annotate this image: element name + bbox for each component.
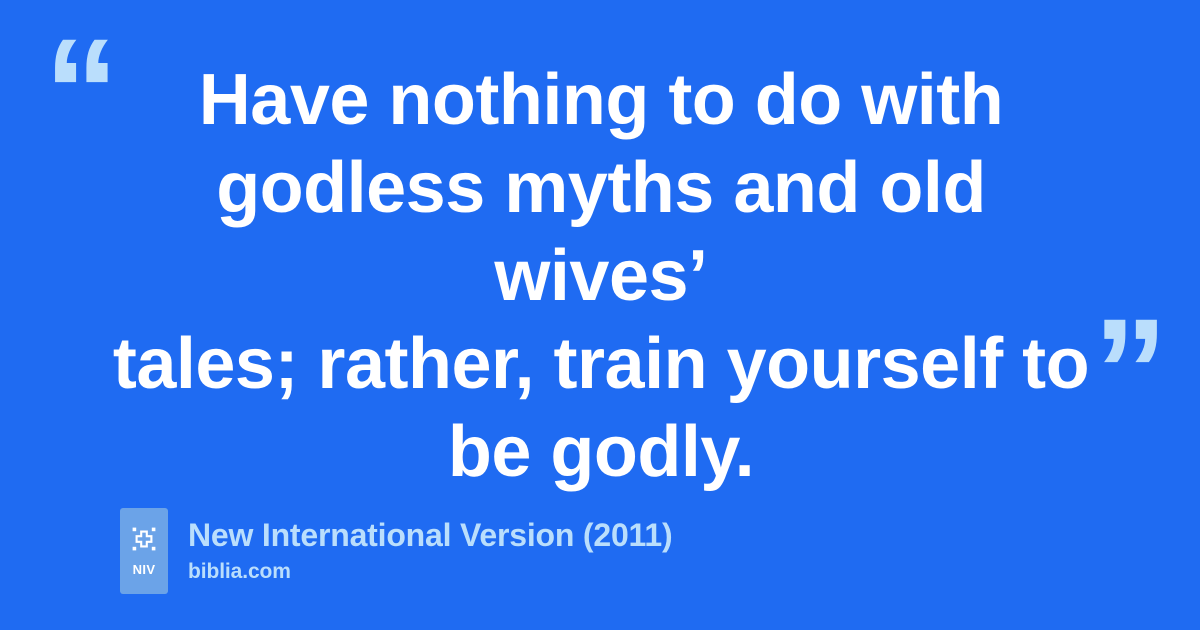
closing-quotation-mark: ” bbox=[1093, 296, 1166, 446]
attribution-text: New International Version (2011) biblia.… bbox=[188, 508, 672, 594]
bible-version-name: New International Version (2011) bbox=[188, 515, 672, 555]
attribution: NIV New International Version (2011) bib… bbox=[120, 508, 672, 594]
version-abbreviation: NIV bbox=[133, 563, 156, 576]
site-url[interactable]: biblia.com bbox=[188, 559, 672, 585]
bible-verse-quote-card: “ Have nothing to do with godless myths … bbox=[0, 0, 1200, 630]
opening-quotation-mark: “ bbox=[44, 16, 117, 166]
cross-selection-icon bbox=[132, 527, 156, 551]
version-badge: NIV bbox=[120, 508, 168, 594]
quote-text: Have nothing to do with godless myths an… bbox=[108, 56, 1094, 496]
